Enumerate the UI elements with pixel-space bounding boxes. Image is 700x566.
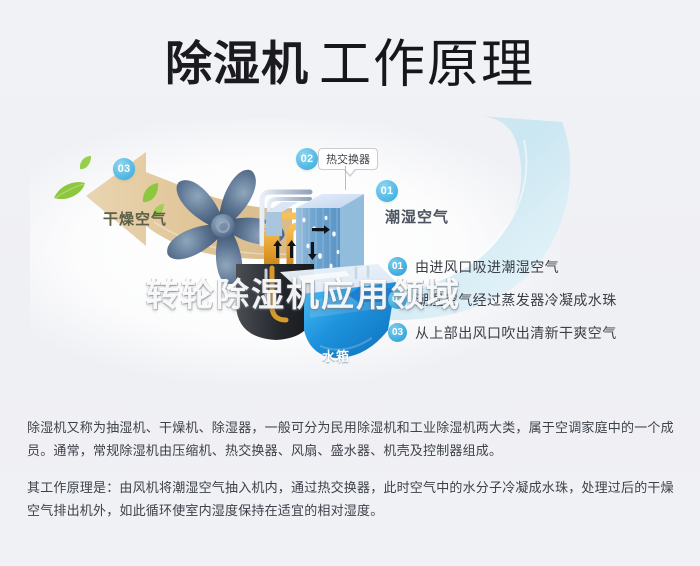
paragraph-1: 除湿机又称为抽湿机、干燥机、除湿器，一般可分为民用除湿机和工业除湿机两大类，属于… [27,416,675,462]
title-bold-part: 除湿机 [165,37,309,90]
step-label: 由进风口吸进潮湿空气 [415,257,559,277]
step-number-badge: 01 [388,257,407,276]
step-number-badge: 03 [388,323,407,342]
heat-exchanger-callout: 热交换器 [318,148,378,170]
body-copy: 除湿机又称为抽湿机、干燥机、除湿器，一般可分为民用除湿机和工业除湿机两大类，属于… [27,416,675,522]
step-number-badge: 02 [388,290,407,309]
list-item: 02 潮湿空气经过蒸发器冷凝成水珠 [388,283,688,316]
water-tank-icon [228,258,408,373]
list-item: 01 由进风口吸进潮湿空气 [388,250,688,283]
callout-stem [345,166,346,190]
leaf-icon [78,155,92,171]
dry-air-label: 干燥空气 [103,208,167,229]
step-list: 01 由进风口吸进潮湿空气 02 潮湿空气经过蒸发器冷凝成水珠 03 从上部出风… [388,250,688,349]
paragraph-2: 其工作原理是：由风机将潮湿空气抽入机内，通过热交换器，此时空气中的水分子冷凝成水… [27,476,675,522]
diagram-badge-03: 03 [113,158,135,180]
page-root: 除湿机工作原理 [0,0,700,566]
leaf-icon [52,180,86,202]
list-item: 03 从上部出风口吹出清新干爽空气 [388,316,688,349]
water-tank-label: 水箱 [322,346,350,365]
step-label: 潮湿空气经过蒸发器冷凝成水珠 [415,290,617,310]
diagram-badge-02: 02 [296,148,318,170]
diagram-badge-01: 01 [376,180,398,202]
humid-air-label: 潮湿空气 [385,206,449,227]
title-light-part: 工作原理 [319,36,535,94]
step-label: 从上部出风口吹出清新干爽空气 [415,323,617,343]
page-title: 除湿机工作原理 [0,22,700,97]
